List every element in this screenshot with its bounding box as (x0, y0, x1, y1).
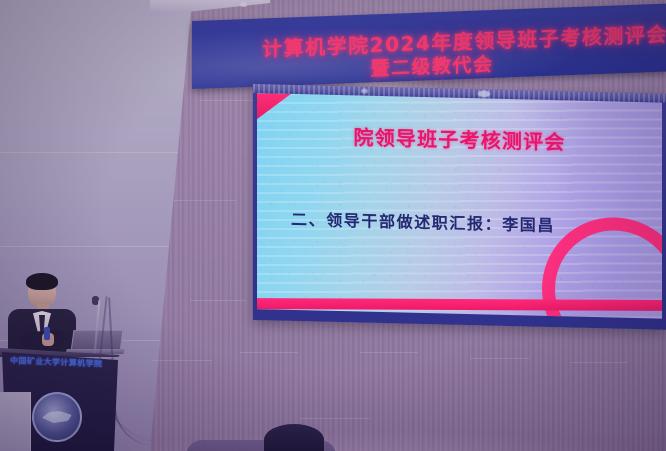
speaker-hair (26, 273, 58, 290)
slide-bottom-band-decor (257, 298, 662, 311)
panel-joint (240, 352, 298, 353)
slide-body-line: 二、领导干部做述职汇报：李国昌 (291, 206, 651, 238)
screen-highlight-icon (361, 89, 368, 94)
projection-screen: 院领导班子考核测评会 二、领导干部做述职汇报：李国昌 (253, 84, 666, 330)
handheld-microphone-icon (44, 327, 50, 340)
panel-joint (190, 300, 246, 301)
left-side-panel (0, 392, 31, 451)
wall-floor-glow (100, 430, 660, 451)
panel-joint (300, 418, 370, 419)
panel-joint (174, 200, 236, 201)
panel-joint (470, 358, 530, 359)
university-emblem-icon (32, 392, 82, 442)
ceiling-light-icon (240, 2, 247, 7)
presentation-slide: 院领导班子考核测评会 二、领导干部做述职汇报：李国昌 (257, 93, 662, 319)
screen-highlight-icon (478, 90, 490, 97)
audience-head (264, 424, 324, 451)
panel-joint (360, 352, 418, 353)
panel-joint (200, 100, 260, 101)
slide-title: 院领导班子考核测评会 (257, 119, 662, 158)
conference-room-photo: 计算机学院2024年度领导班子考核测评会 暨二级教代会 院领导班子考核测评会 二… (0, 0, 666, 451)
panel-joint (570, 362, 628, 363)
slide-corner-triangle-decor (257, 93, 291, 120)
